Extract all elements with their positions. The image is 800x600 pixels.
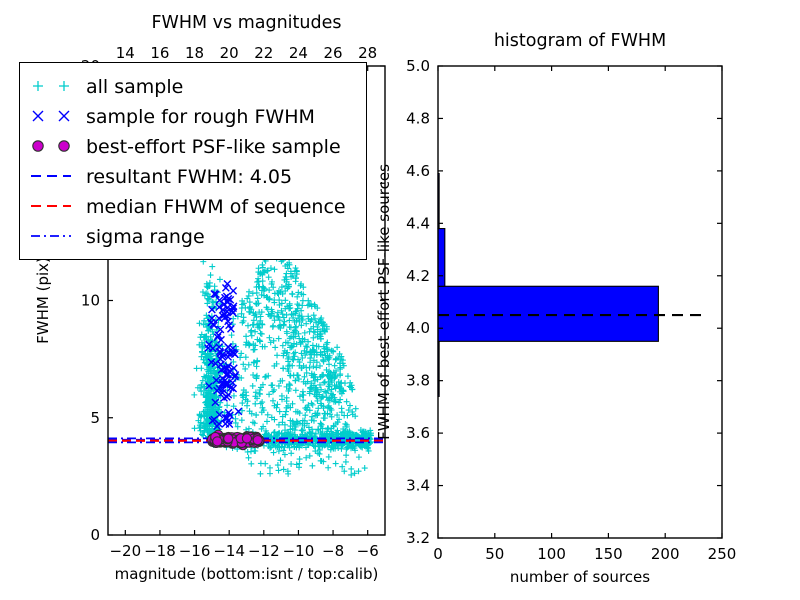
legend: all samplesample for rough FWHMbest-effo… xyxy=(19,62,367,260)
left-xtick-label: −18 xyxy=(144,542,176,560)
circle-icon xyxy=(59,141,69,151)
legend-item[interactable]: all sample xyxy=(33,76,183,98)
histogram-of-fwhm-axes: histogram of FWHM0501001502002503.23.43.… xyxy=(375,0,800,600)
right-yaxis-label: FWHM of best-effort PSF-like sources xyxy=(375,164,393,440)
cross-icon xyxy=(33,111,43,121)
left-xtick-label: −8 xyxy=(322,542,344,560)
legend-item[interactable]: resultant FWHM: 4.05 xyxy=(31,166,292,188)
legend-item-label: median FHWM of sequence xyxy=(86,196,346,218)
right-xtick-label: 50 xyxy=(485,545,504,563)
right-xtick-label: 250 xyxy=(708,545,737,563)
left-xtick-label: −12 xyxy=(248,542,280,560)
right-ytick-label: 3.6 xyxy=(406,424,430,442)
right-xtick-label: 200 xyxy=(651,545,680,563)
left-xtick-label: −14 xyxy=(213,542,245,560)
right-ytick-label: 3.2 xyxy=(406,529,430,547)
left-xtick-label: −10 xyxy=(283,542,315,560)
left-top-xtick-label: 26 xyxy=(324,44,343,62)
right-ytick-label: 4.0 xyxy=(406,319,430,337)
histogram-bars xyxy=(438,174,658,397)
left-yaxis-label: FWHM (pix) xyxy=(34,257,52,344)
circle-icon xyxy=(33,141,43,151)
right-ytick-label: 3.4 xyxy=(406,477,430,495)
figure-canvas: FWHM vs magnitudes−20−18−16−14−12−10−8−6… xyxy=(0,0,800,600)
left-top-xtick-label: 24 xyxy=(289,44,308,62)
legend-item-label: best-effort PSF-like sample xyxy=(86,136,341,158)
right-ytick-label: 4.2 xyxy=(406,267,430,285)
right-ytick-label: 3.8 xyxy=(406,372,430,390)
left-top-xtick-label: 14 xyxy=(116,44,135,62)
left-ytick-label: 10 xyxy=(81,292,100,310)
plus-icon xyxy=(59,81,69,91)
right-xtick-label: 150 xyxy=(594,545,623,563)
right-ytick-label: 4.6 xyxy=(406,162,430,180)
histogram-bar xyxy=(438,229,445,287)
legend-content: all samplesample for rough FWHMbest-effo… xyxy=(20,63,366,259)
right-ytick-label: 4.8 xyxy=(406,109,430,127)
legend-item[interactable]: sample for rough FWHM xyxy=(33,106,315,128)
left-top-xtick-label: 20 xyxy=(220,44,239,62)
histogram-bar xyxy=(438,286,658,341)
legend-item-label: sigma range xyxy=(86,226,205,248)
legend-item[interactable]: sigma range xyxy=(31,226,205,248)
left-top-xtick-label: 18 xyxy=(185,44,204,62)
legend-item-label: all sample xyxy=(86,76,183,98)
legend-item-label: resultant FWHM: 4.05 xyxy=(86,166,292,188)
right-xtick-label: 0 xyxy=(433,545,443,563)
legend-item[interactable]: median FHWM of sequence xyxy=(31,196,346,218)
right-ytick-label: 4.4 xyxy=(406,214,430,232)
left-xtick-label: −20 xyxy=(109,542,141,560)
left-plot-title: FWHM vs magnitudes xyxy=(151,13,341,33)
right-xtick-label: 100 xyxy=(537,545,566,563)
left-ytick-label: 0 xyxy=(90,526,100,544)
cross-icon xyxy=(59,111,69,121)
left-top-xtick-label: 22 xyxy=(254,44,273,62)
left-xtick-label: −16 xyxy=(179,542,211,560)
right-ytick-label: 5.0 xyxy=(406,57,430,75)
left-top-xtick-label: 16 xyxy=(150,44,169,62)
legend-item-label: sample for rough FWHM xyxy=(86,106,315,128)
left-ytick-label: 5 xyxy=(90,409,100,427)
left-xaxis-label: magnitude (bottom:isnt / top:calib) xyxy=(115,565,379,583)
legend-item[interactable]: best-effort PSF-like sample xyxy=(33,136,341,158)
plus-icon xyxy=(33,81,43,91)
right-xaxis-label: number of sources xyxy=(510,568,650,586)
right-plot-title: histogram of FWHM xyxy=(494,31,666,51)
